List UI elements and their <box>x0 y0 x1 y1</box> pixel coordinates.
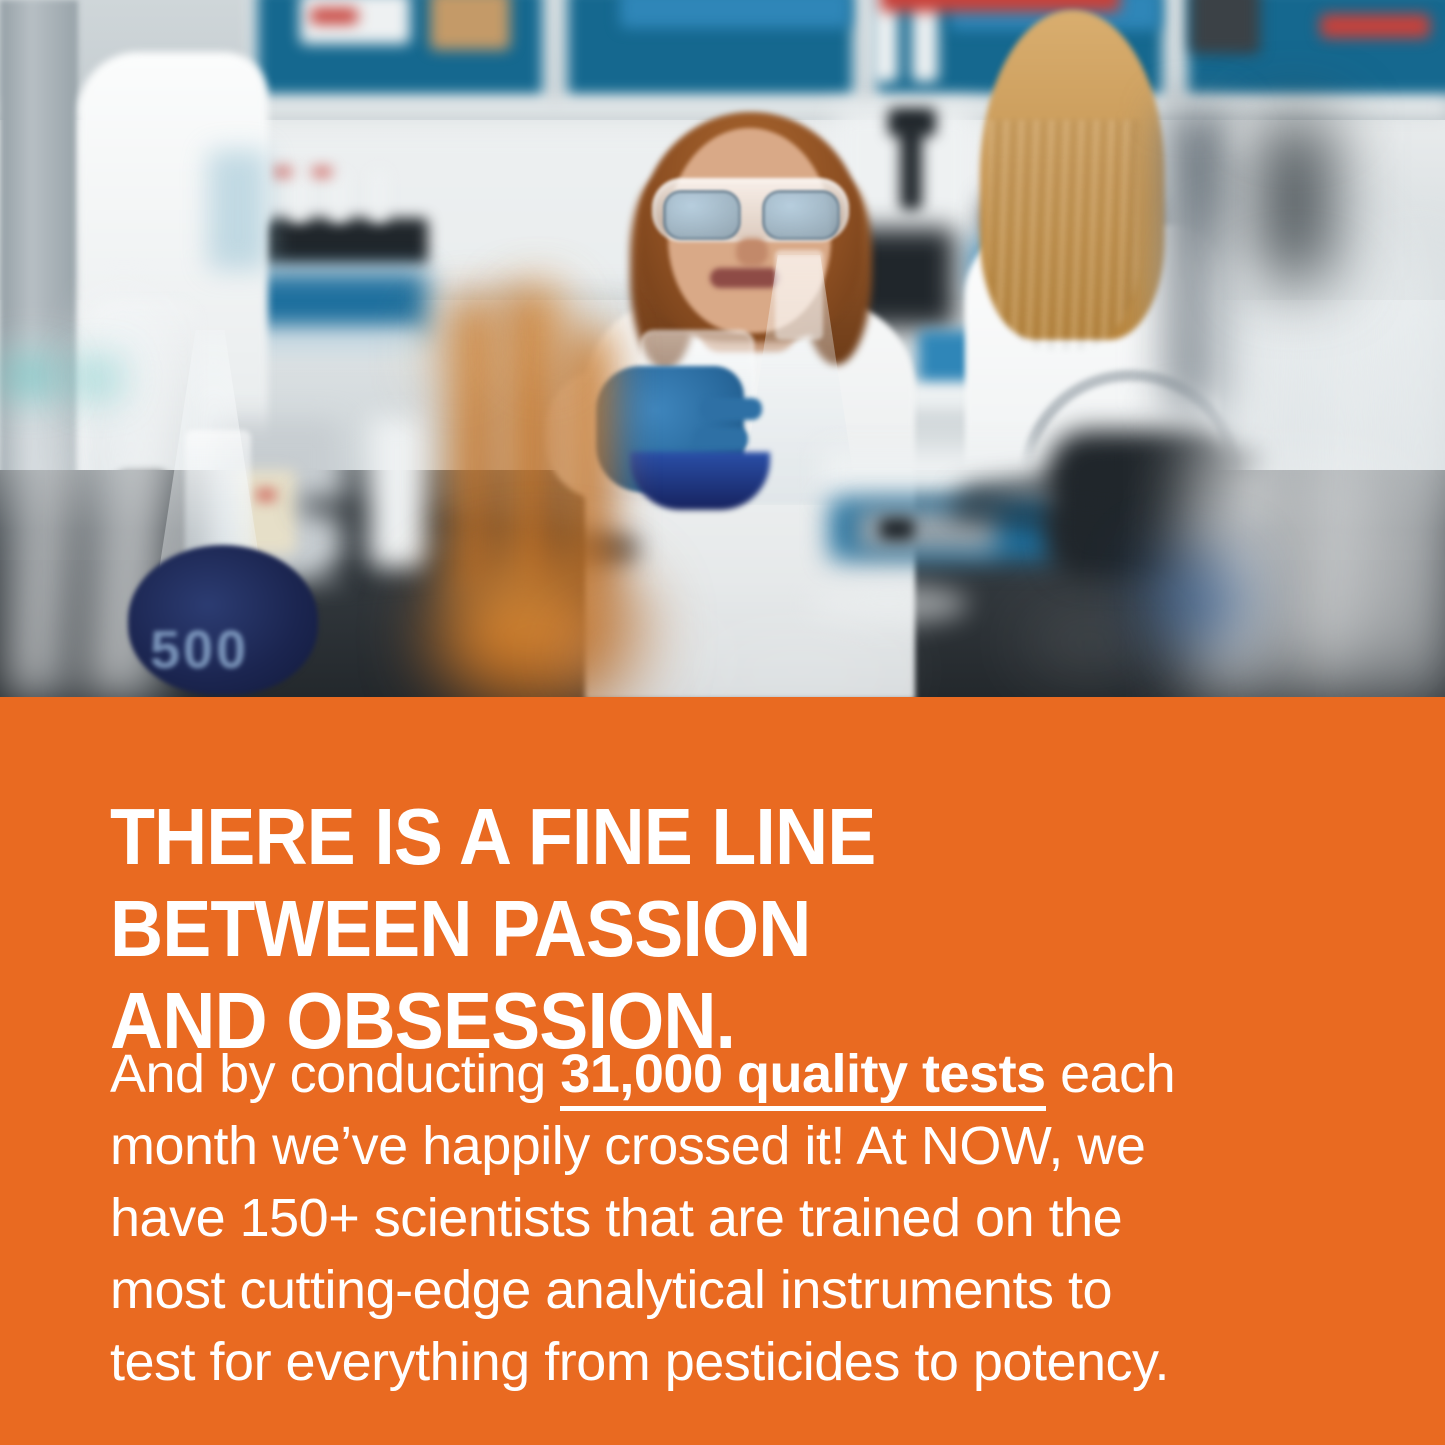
analytical-balance-top <box>822 448 1072 504</box>
bokeh-3 <box>1020 612 1160 672</box>
body-line-5: test for everything from pesticides to p… <box>110 1326 1360 1398</box>
goggles-lens-left <box>663 190 741 240</box>
lab-photo: 500 <box>0 0 1445 697</box>
flask-500: 500 <box>128 545 318 695</box>
vial-3 <box>290 170 308 222</box>
scientist-right-hair-strands <box>988 120 1138 350</box>
scientist-center-mouth <box>710 268 780 288</box>
cabinet-item-red-1 <box>310 8 358 24</box>
white-post <box>370 418 426 568</box>
flask-500-label: 500 <box>150 619 249 681</box>
scientist-left-accessory <box>208 150 268 270</box>
body-line-4: most cutting-edge analytical instruments… <box>110 1254 1360 1326</box>
body-line-1: And by conducting 31,000 quality tests e… <box>110 1038 1360 1110</box>
cabinet-item-column-2 <box>912 0 938 82</box>
cabinet-item-red-shelf <box>880 0 1120 12</box>
body-line-1-before: And by conducting <box>110 1044 560 1104</box>
bg-switch-panel <box>1240 120 1260 156</box>
vial-5 <box>370 170 388 222</box>
vial-4 <box>330 172 348 222</box>
wall-outlet-indicator <box>256 490 276 500</box>
instrument-tower-head <box>888 108 936 136</box>
bokeh-1 <box>560 620 720 690</box>
page-title: THERE IS A FINE LINE BETWEEN PASSION AND… <box>110 791 1251 1067</box>
goggles-lens-right <box>762 190 840 240</box>
bokeh-2 <box>700 640 900 697</box>
cabinet-item-column-1 <box>872 0 898 82</box>
blue-bokeh-right <box>1150 560 1240 640</box>
amber-highlight-1 <box>440 320 470 380</box>
cabinet-item-red-shelf-2 <box>1320 14 1430 38</box>
body-line-2: month we’ve happily crossed it! At NOW, … <box>110 1110 1360 1182</box>
balance-knob <box>880 518 914 540</box>
cabinet-item-dark <box>1190 0 1260 54</box>
petri-dish <box>808 584 968 624</box>
lab-scene: 500 <box>0 0 1445 697</box>
vial-cap-red-1 <box>272 168 292 176</box>
vial-cap-red-2 <box>312 168 332 176</box>
glass-cap-teal-2 <box>80 368 114 388</box>
erlenmeyer-flask-neck <box>775 250 823 340</box>
bg-dark-bar-right <box>1260 120 1330 280</box>
headline-line-2: BETWEEN PASSION <box>110 883 1251 975</box>
amber-highlight-2 <box>530 300 556 370</box>
body-line-1-after: each <box>1046 1044 1176 1104</box>
stat-quality-tests: 31,000 quality tests <box>560 1044 1045 1111</box>
promo-card: 500 THERE IS A FINE LINE BETWEEN PASS <box>0 0 1445 1445</box>
body-line-3: have 150+ scientists that are trained on… <box>110 1182 1360 1254</box>
scientist-center-nose <box>736 238 768 266</box>
headline-line-1: THERE IS A FINE LINE <box>110 791 1251 883</box>
body-copy: And by conducting 31,000 quality tests e… <box>110 1038 1360 1398</box>
foreground-glass-left-1 <box>8 348 70 697</box>
glass-cap-teal-1 <box>6 366 54 388</box>
amber-glass-3 <box>566 330 610 600</box>
glove-finger-2 <box>694 428 748 450</box>
cabinet-item-blue-band <box>620 0 850 28</box>
cabinet-item-box <box>430 0 510 50</box>
glove-finger-1 <box>700 398 762 420</box>
